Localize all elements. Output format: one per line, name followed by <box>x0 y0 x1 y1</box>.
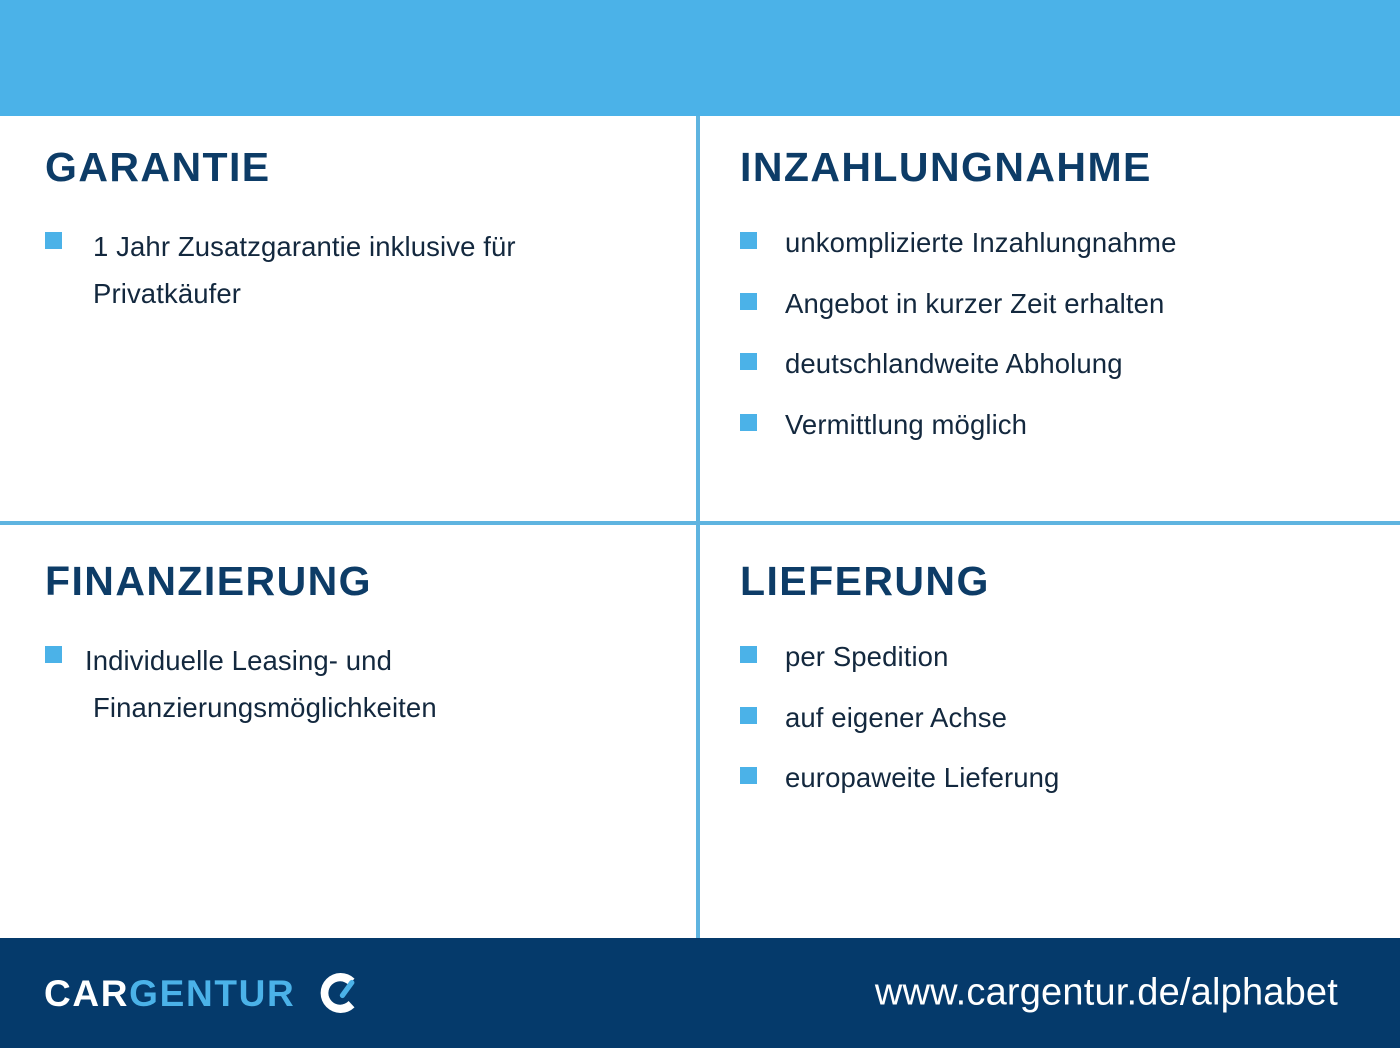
square-bullet-icon <box>740 767 757 784</box>
quadrant-title-finanzierung: FINANZIERUNG <box>45 560 666 603</box>
list-item: unkomplizierte Inzahlungnahme <box>740 223 1370 264</box>
list-item-label: auf eigener Achse <box>785 698 1007 739</box>
logo-wordmark: CARGENTUR <box>44 975 295 1012</box>
list-item: Individuelle Leasing- und Finanzierungsm… <box>45 637 666 732</box>
quadrant-title-inzahlungnahme: INZAHLUNGNAHME <box>740 146 1370 189</box>
quadrant-inzahlungnahme: INZAHLUNGNAHME unkomplizierte Inzahlungn… <box>700 116 1400 521</box>
list-item-label: unkomplizierte Inzahlungnahme <box>785 223 1176 264</box>
list-item: per Spedition <box>740 637 1370 678</box>
list-item-label: 1 Jahr Zusatzgarantie inklusive für Priv… <box>93 223 653 318</box>
list-item: deutschlandweite Abholung <box>740 344 1370 385</box>
footer-bar: CARGENTUR www.cargentur.de/alphabet <box>0 938 1400 1048</box>
top-banner <box>0 0 1400 116</box>
bullet-list-finanzierung: Individuelle Leasing- und Finanzierungsm… <box>45 637 666 732</box>
list-item: 1 Jahr Zusatzgarantie inklusive für Priv… <box>45 223 666 318</box>
bullet-list-lieferung: per Spedition auf eigener Achse europawe… <box>740 637 1370 799</box>
square-bullet-icon <box>45 232 62 249</box>
list-item-label: europaweite Lieferung <box>785 758 1059 799</box>
footer-url-text: www.cargentur.de/alphabet <box>875 972 1338 1015</box>
square-bullet-icon <box>740 293 757 310</box>
slide-root: GARANTIE 1 Jahr Zusatzgarantie inklusive… <box>0 0 1400 1048</box>
list-item-label: per Spedition <box>785 637 949 678</box>
logo-text-car: CAR <box>44 973 129 1014</box>
square-bullet-icon <box>740 707 757 724</box>
list-item: Angebot in kurzer Zeit erhalten <box>740 284 1370 325</box>
bullet-list-inzahlungnahme: unkomplizierte Inzahlungnahme Angebot in… <box>740 223 1370 446</box>
square-bullet-icon <box>45 646 62 663</box>
square-bullet-icon <box>740 353 757 370</box>
list-item-label: Individuelle Leasing- und Finanzierungsm… <box>93 637 653 732</box>
quadrant-title-lieferung: LIEFERUNG <box>740 560 1370 603</box>
list-item-label: Vermittlung möglich <box>785 405 1027 446</box>
cargentur-c-mark-icon <box>313 966 367 1020</box>
list-item-label: Angebot in kurzer Zeit erhalten <box>785 284 1164 325</box>
cargentur-logo: CARGENTUR <box>44 966 367 1020</box>
square-bullet-icon <box>740 414 757 431</box>
square-bullet-icon <box>740 646 757 663</box>
square-bullet-icon <box>740 232 757 249</box>
quadrant-garantie: GARANTIE 1 Jahr Zusatzgarantie inklusive… <box>0 116 696 521</box>
list-item: auf eigener Achse <box>740 698 1370 739</box>
logo-text-gentur: GENTUR <box>129 973 295 1014</box>
quadrant-title-garantie: GARANTIE <box>45 146 666 189</box>
list-item-label: deutschlandweite Abholung <box>785 344 1123 385</box>
quadrant-finanzierung: FINANZIERUNG Individuelle Leasing- und F… <box>0 525 696 938</box>
bullet-list-garantie: 1 Jahr Zusatzgarantie inklusive für Priv… <box>45 223 666 318</box>
list-item: Vermittlung möglich <box>740 405 1370 446</box>
list-item: europaweite Lieferung <box>740 758 1370 799</box>
quadrant-lieferung: LIEFERUNG per Spedition auf eigener Achs… <box>700 525 1400 938</box>
